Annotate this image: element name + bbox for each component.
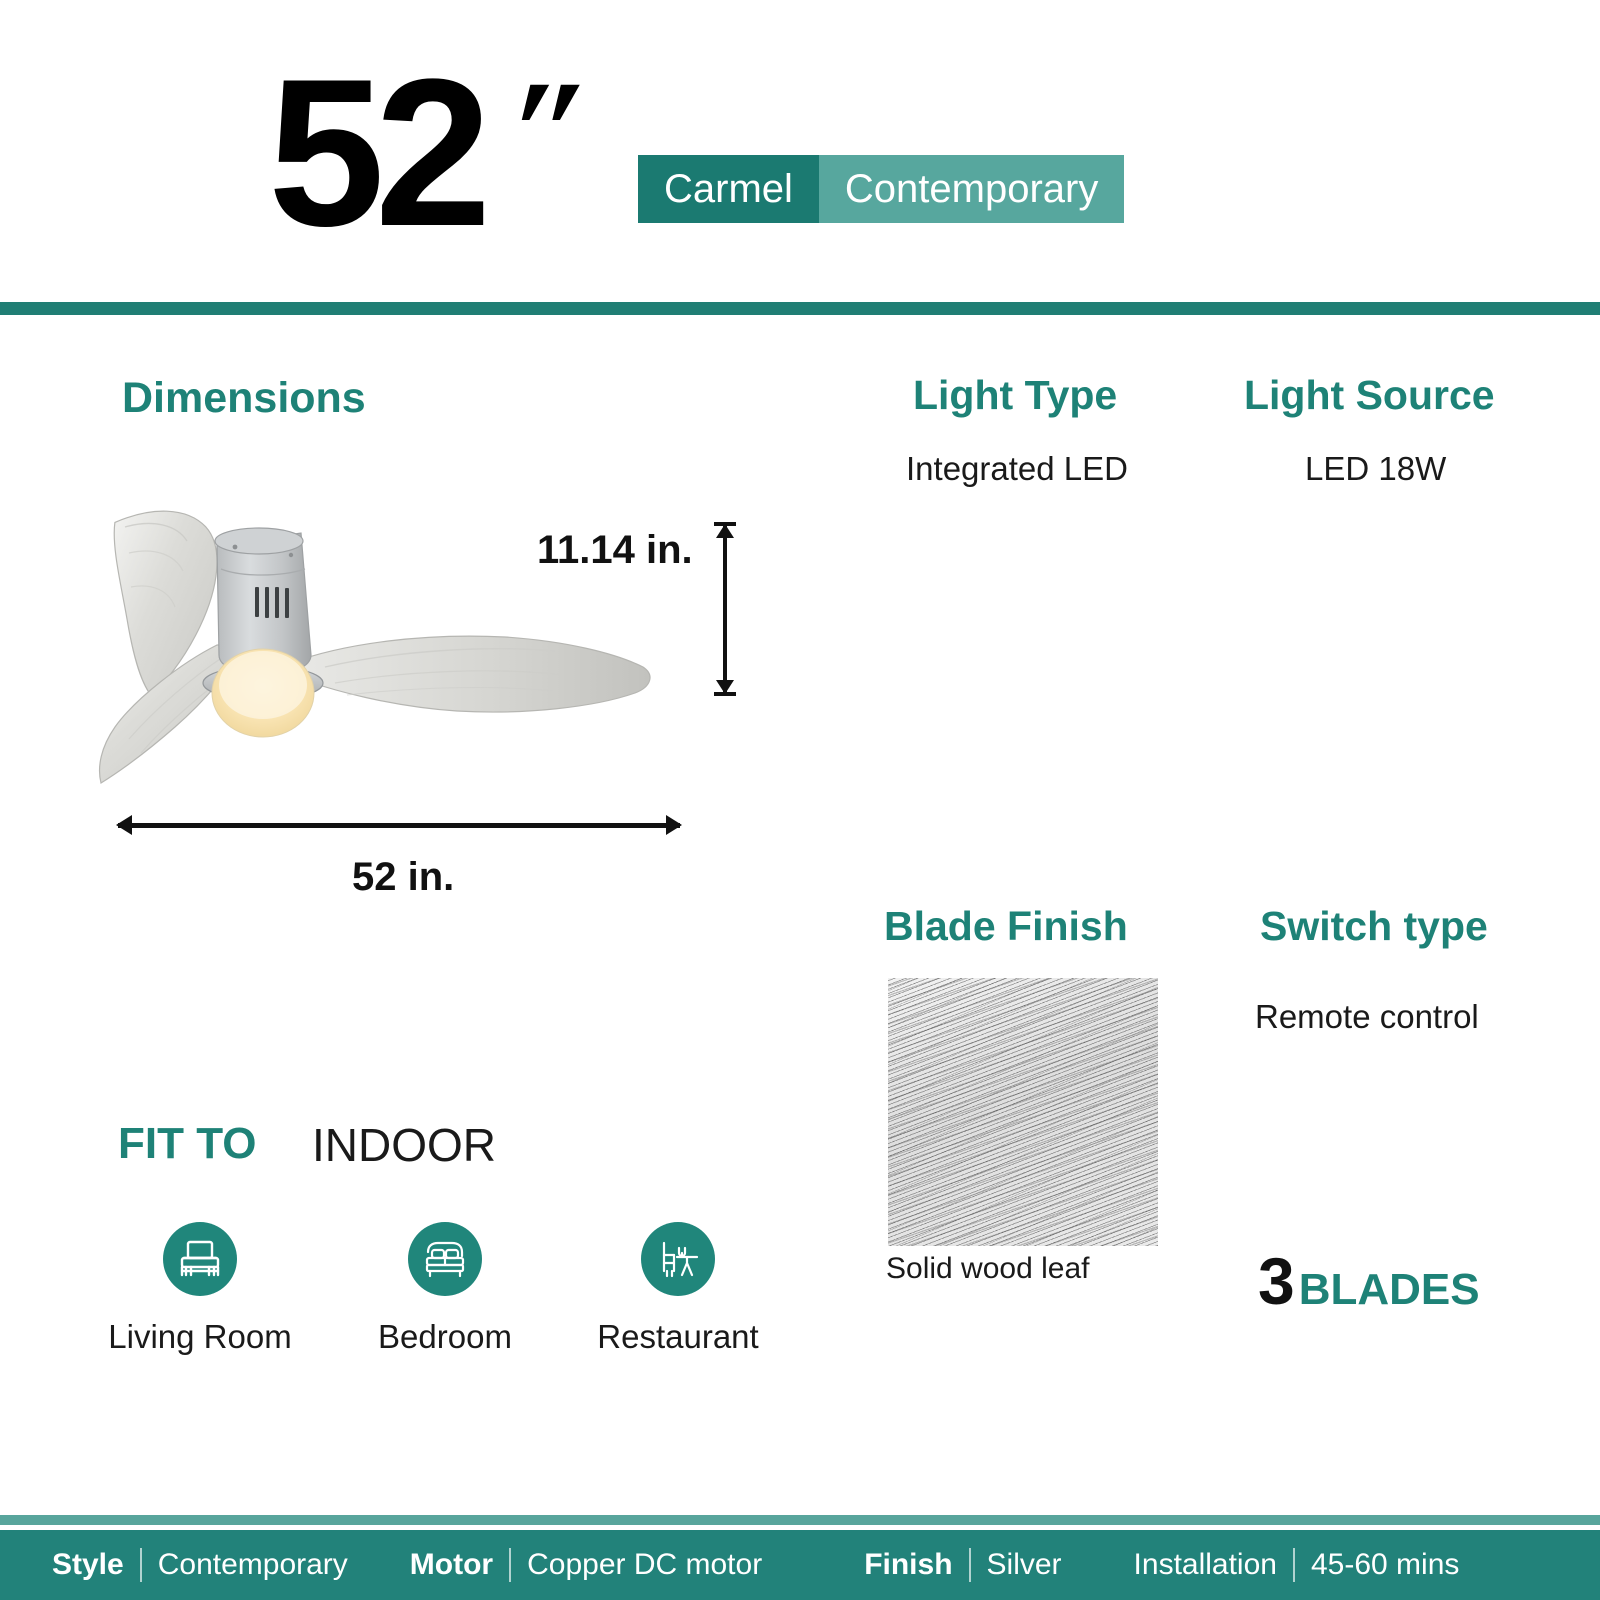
- room-item-living-room: Living Room: [75, 1222, 325, 1356]
- height-dimension-arrow: [723, 522, 727, 696]
- spec-item-style: Style Contemporary: [52, 1548, 348, 1582]
- fan-size-unit: ″: [494, 58, 598, 208]
- spec-value-installation: 45-60 mins: [1311, 1548, 1459, 1582]
- spec-value-finish: Silver: [987, 1548, 1062, 1582]
- width-dimension-label: 52 in.: [352, 855, 454, 900]
- sofa-icon: [163, 1222, 237, 1296]
- spec-item-finish: Finish Silver: [864, 1548, 1061, 1582]
- spec-key-style: Style: [52, 1548, 124, 1582]
- spec-separator: [969, 1548, 971, 1582]
- room-label-bedroom: Bedroom: [320, 1318, 570, 1356]
- spec-separator: [140, 1548, 142, 1582]
- height-dimension-label: 11.14 in.: [537, 528, 693, 573]
- light-type-value: Integrated LED: [906, 450, 1128, 488]
- light-source-heading: Light Source: [1244, 372, 1495, 419]
- arrow-head-up-icon: [716, 524, 734, 538]
- spec-separator: [1293, 1548, 1295, 1582]
- fit-to-value: INDOOR: [312, 1118, 496, 1172]
- fit-to-label: FIT TO: [118, 1119, 257, 1169]
- spec-item-installation: Installation 45-60 mins: [1134, 1548, 1460, 1582]
- fan-size-number: 52: [268, 48, 482, 258]
- header: 52 ″ Carmel Contemporary: [0, 0, 1600, 305]
- switch-type-heading: Switch type: [1260, 903, 1488, 950]
- light-type-heading: Light Type: [913, 372, 1117, 419]
- spec-key-motor: Motor: [410, 1548, 493, 1582]
- spec-item-motor: Motor Copper DC motor: [410, 1548, 762, 1582]
- spec-value-motor: Copper DC motor: [527, 1548, 762, 1582]
- dimensions-heading: Dimensions: [122, 374, 366, 423]
- blade-count: 3 BLADES: [1258, 1248, 1480, 1314]
- arrow-head-down-icon: [716, 680, 734, 694]
- header-divider: [0, 302, 1600, 315]
- spec-key-installation: Installation: [1134, 1548, 1277, 1582]
- blade-finish-heading: Blade Finish: [884, 903, 1128, 950]
- spec-footer-bar: Style Contemporary Motor Copper DC motor…: [0, 1530, 1600, 1600]
- blade-count-number: 3: [1258, 1248, 1295, 1314]
- style-name-label: Contemporary: [819, 155, 1124, 223]
- blade-finish-caption: Solid wood leaf: [886, 1252, 1089, 1286]
- room-item-restaurant: Restaurant: [553, 1222, 803, 1356]
- light-source-value: LED 18W: [1305, 450, 1446, 488]
- arrow-head-right-icon: [666, 815, 682, 835]
- footer-divider: [0, 1515, 1600, 1525]
- model-name-label: Carmel: [638, 155, 819, 223]
- table-chair-icon: [641, 1222, 715, 1296]
- room-label-living-room: Living Room: [75, 1318, 325, 1356]
- width-dimension-arrow: [118, 823, 680, 828]
- bed-icon: [408, 1222, 482, 1296]
- arrow-head-left-icon: [116, 815, 132, 835]
- room-label-restaurant: Restaurant: [553, 1318, 803, 1356]
- spec-value-style: Contemporary: [158, 1548, 348, 1582]
- blade-finish-swatch: [888, 978, 1158, 1246]
- product-name-banner: Carmel Contemporary: [638, 155, 1124, 223]
- room-item-bedroom: Bedroom: [320, 1222, 570, 1356]
- spec-key-finish: Finish: [864, 1548, 952, 1582]
- spec-separator: [509, 1548, 511, 1582]
- switch-type-value: Remote control: [1255, 998, 1479, 1036]
- blade-count-word: BLADES: [1299, 1268, 1480, 1312]
